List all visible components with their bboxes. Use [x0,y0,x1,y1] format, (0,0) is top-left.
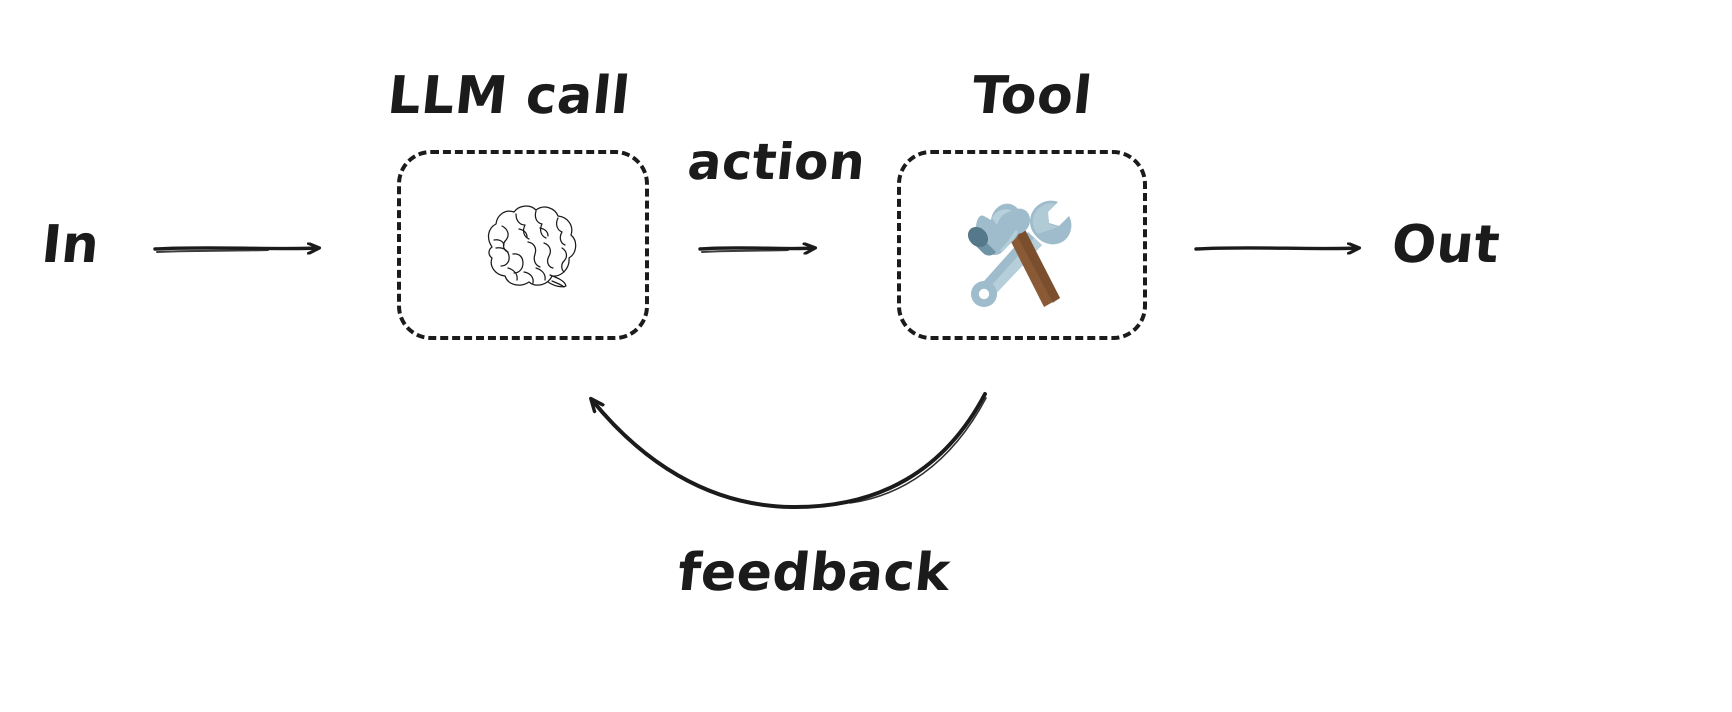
connector-layer [0,0,1732,712]
input-label: In [39,215,103,275]
edge-tool-to-out [1196,248,1358,249]
edge-feedback [592,394,986,507]
hammer-and-wrench-icon [958,190,1086,310]
output-label: Out [1389,215,1503,275]
brain-icon [472,198,590,294]
diagram-canvas: In LLM call [0,0,1732,712]
tool-title: Tool [969,66,1095,126]
action-edge-label: action [685,133,868,191]
brain-icon-svg [472,198,590,294]
feedback-edge-label: feedback [675,543,953,603]
edge-llm-to-tool [700,248,814,252]
hammer-and-wrench-icon-svg [958,190,1086,310]
llm-call-title: LLM call [385,66,633,126]
edge-in-to-llm [155,248,318,252]
